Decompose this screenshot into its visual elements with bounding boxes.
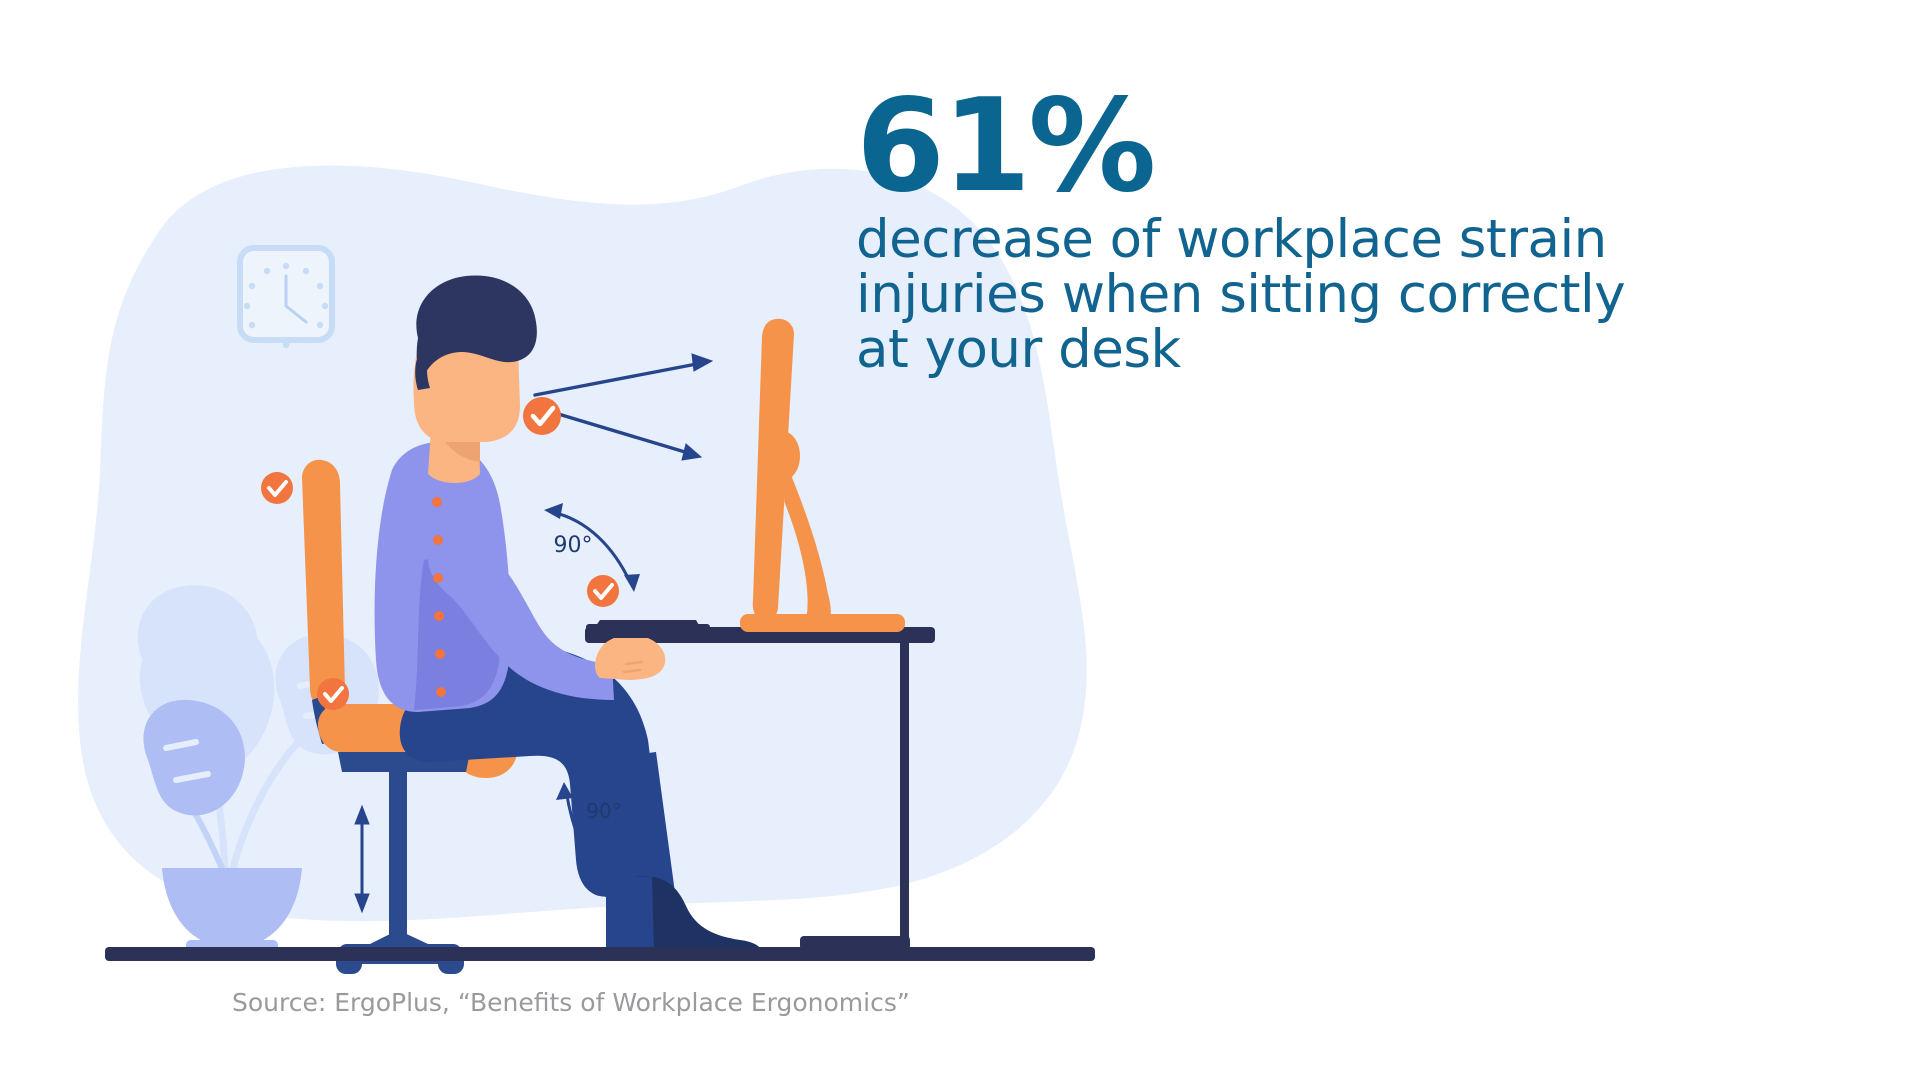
infographic-canvas: 90° 90° <box>0 0 1919 1080</box>
wall-clock-icon <box>240 248 332 348</box>
headline-block: 61% decrease of workplace strain injurie… <box>856 88 1636 377</box>
check-badge-knee <box>587 575 619 607</box>
person-shoe-heel <box>606 876 654 950</box>
stat-description: decrease of workplace strain injuries wh… <box>856 212 1636 377</box>
elbow-angle-label: 90° <box>554 533 593 558</box>
plant-pot <box>162 868 302 948</box>
check-badge-elbow <box>523 397 561 435</box>
check-badge-seat-height <box>317 678 349 710</box>
source-caption: Source: ErgoPlus, “Benefits of Workplace… <box>232 988 910 1017</box>
check-badge-chair-back <box>261 472 293 504</box>
stat-number: 61% <box>856 88 1636 206</box>
keyboard <box>586 620 710 638</box>
monitor-base <box>740 614 905 632</box>
floor-line <box>105 947 1095 961</box>
chair-column <box>389 770 407 945</box>
knee-angle-label: 90° <box>586 799 621 823</box>
